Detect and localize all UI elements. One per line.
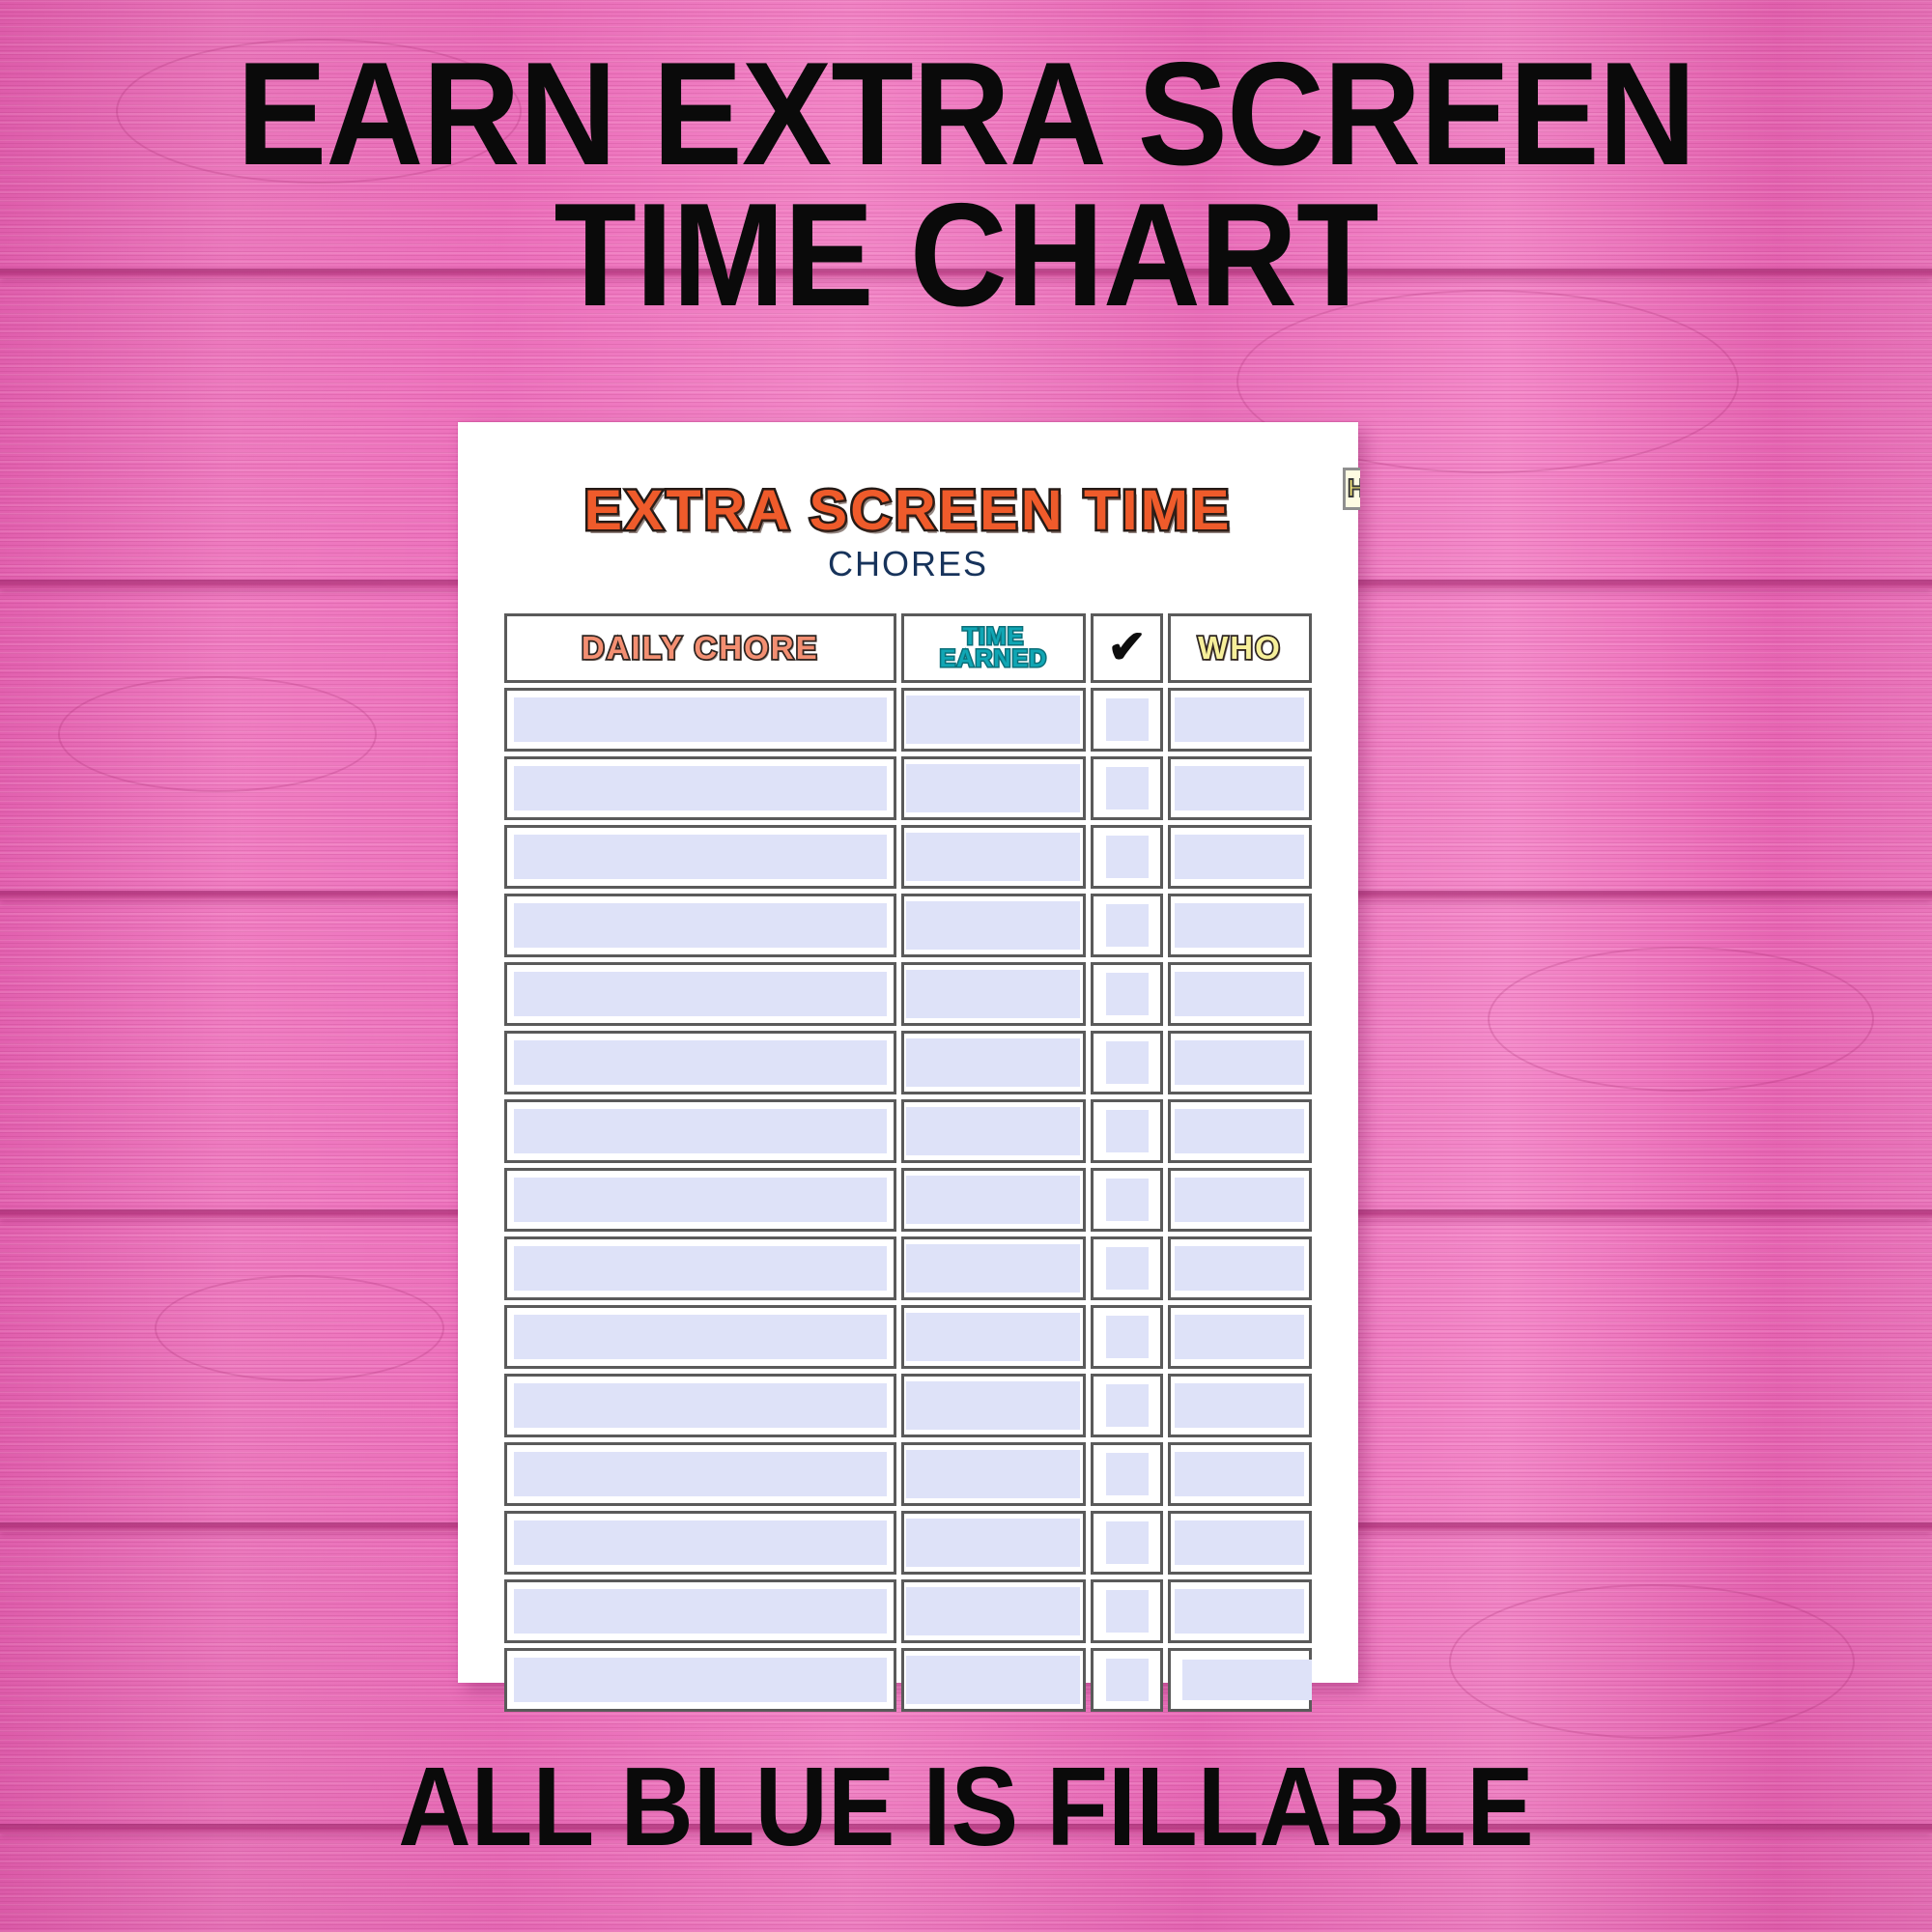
table-row bbox=[504, 1099, 1312, 1163]
poster-canvas: EARN EXTRA SCREEN TIME CHART H EXTRA SCR… bbox=[0, 0, 1932, 1932]
table-cell-daily_chore bbox=[504, 825, 896, 889]
table-cell-time_earned bbox=[901, 825, 1087, 889]
table-cell-daily_chore bbox=[504, 1648, 896, 1712]
check-fill-field[interactable] bbox=[1106, 1521, 1149, 1564]
time-fill-field[interactable] bbox=[906, 1450, 1080, 1498]
table-cell-time_earned bbox=[901, 756, 1087, 820]
printable-sheet: H EXTRA SCREEN TIME CHORES DAILY CHORE T… bbox=[458, 422, 1358, 1683]
headline-line-1: EARN EXTRA SCREEN bbox=[77, 44, 1855, 185]
check-fill-field[interactable] bbox=[1106, 1247, 1149, 1290]
table-cell-time_earned bbox=[901, 688, 1087, 752]
check-fill-field[interactable] bbox=[1106, 1659, 1149, 1701]
table-cell-time_earned bbox=[901, 1442, 1087, 1506]
headline-line-2: TIME CHART bbox=[77, 185, 1855, 327]
time-fill-field[interactable] bbox=[906, 833, 1080, 881]
chore-table: DAILY CHORE TIME EARNED ✔ WHO bbox=[504, 613, 1312, 1717]
table-row bbox=[504, 1236, 1312, 1300]
table-cell-time_earned bbox=[901, 1099, 1087, 1163]
table-cell-time_earned bbox=[901, 894, 1087, 957]
check-fill-field[interactable] bbox=[1106, 1179, 1149, 1221]
table-cell-who bbox=[1168, 1442, 1312, 1506]
table-cell-check bbox=[1091, 1442, 1163, 1506]
table-row bbox=[504, 688, 1312, 752]
table-cell-daily_chore bbox=[504, 1168, 896, 1232]
check-fill-field[interactable] bbox=[1106, 698, 1149, 741]
table-cell-who bbox=[1168, 825, 1312, 889]
who-fill-field[interactable] bbox=[1175, 972, 1304, 1016]
table-row bbox=[504, 1442, 1312, 1506]
who-fill-field[interactable] bbox=[1175, 903, 1304, 948]
chore-fill-field[interactable] bbox=[514, 972, 887, 1016]
table-row bbox=[504, 756, 1312, 820]
time-fill-field[interactable] bbox=[906, 1176, 1080, 1224]
sheet-title-block: EXTRA SCREEN TIME CHORES bbox=[458, 483, 1358, 582]
chore-fill-field[interactable] bbox=[514, 903, 887, 948]
table-cell-who bbox=[1168, 1099, 1312, 1163]
sheet-title: EXTRA SCREEN TIME bbox=[449, 483, 1368, 539]
table-cell-check bbox=[1091, 825, 1163, 889]
table-cell-who bbox=[1168, 1236, 1312, 1300]
check-fill-field[interactable] bbox=[1106, 1316, 1149, 1358]
column-header-who: WHO bbox=[1168, 613, 1312, 683]
table-cell-time_earned bbox=[901, 1236, 1087, 1300]
poster-headline: EARN EXTRA SCREEN TIME CHART bbox=[77, 44, 1855, 327]
table-cell-daily_chore bbox=[504, 688, 896, 752]
table-cell-who bbox=[1168, 962, 1312, 1026]
column-header-label: TIME EARNED bbox=[940, 626, 1048, 670]
table-cell-daily_chore bbox=[504, 1031, 896, 1094]
table-cell-daily_chore bbox=[504, 1236, 896, 1300]
chore-fill-field[interactable] bbox=[514, 1109, 887, 1153]
table-cell-who bbox=[1168, 1648, 1312, 1712]
caption-line: ALL BLUE IS FILLABLE bbox=[97, 1753, 1835, 1861]
table-cell-time_earned bbox=[901, 1168, 1087, 1232]
table-cell-check bbox=[1091, 1648, 1163, 1712]
time-fill-field[interactable] bbox=[906, 901, 1080, 950]
time-fill-field[interactable] bbox=[906, 1038, 1080, 1087]
table-cell-daily_chore bbox=[504, 962, 896, 1026]
check-fill-field[interactable] bbox=[1106, 973, 1149, 1015]
time-fill-field[interactable] bbox=[906, 1313, 1080, 1361]
table-body bbox=[504, 688, 1312, 1712]
time-fill-field[interactable] bbox=[906, 1244, 1080, 1293]
poster-caption: ALL BLUE IS FILLABLE bbox=[97, 1753, 1835, 1861]
table-cell-daily_chore bbox=[504, 1374, 896, 1437]
sheet-subtitle: CHORES bbox=[458, 547, 1358, 582]
table-cell-check bbox=[1091, 1579, 1163, 1643]
check-fill-field[interactable] bbox=[1106, 1384, 1149, 1427]
time-earned-line-2: EARNED bbox=[940, 645, 1048, 672]
column-header-check: ✔ bbox=[1091, 613, 1163, 683]
checkmark-icon: ✔ bbox=[1108, 625, 1147, 671]
who-fill-field[interactable] bbox=[1182, 1660, 1312, 1700]
table-row bbox=[504, 894, 1312, 957]
time-fill-field[interactable] bbox=[906, 1381, 1080, 1430]
table-cell-time_earned bbox=[901, 1511, 1087, 1575]
table-cell-time_earned bbox=[901, 962, 1087, 1026]
check-fill-field[interactable] bbox=[1106, 1590, 1149, 1633]
table-cell-daily_chore bbox=[504, 1511, 896, 1575]
who-fill-field[interactable] bbox=[1175, 766, 1304, 810]
table-cell-daily_chore bbox=[504, 1579, 896, 1643]
table-cell-check bbox=[1091, 962, 1163, 1026]
table-cell-daily_chore bbox=[504, 894, 896, 957]
table-row bbox=[504, 1374, 1312, 1437]
table-cell-who bbox=[1168, 688, 1312, 752]
table-cell-check bbox=[1091, 1099, 1163, 1163]
table-cell-who bbox=[1168, 1031, 1312, 1094]
check-fill-field[interactable] bbox=[1106, 1110, 1149, 1152]
table-row bbox=[504, 1031, 1312, 1094]
who-fill-field[interactable] bbox=[1175, 1315, 1304, 1359]
table-cell-time_earned bbox=[901, 1648, 1087, 1712]
check-fill-field[interactable] bbox=[1106, 904, 1149, 947]
check-fill-field[interactable] bbox=[1106, 767, 1149, 810]
column-header-time-earned: TIME EARNED bbox=[901, 613, 1087, 683]
chore-fill-field[interactable] bbox=[514, 1040, 887, 1085]
chore-fill-field[interactable] bbox=[514, 1658, 887, 1702]
table-row bbox=[504, 1648, 1312, 1712]
table-cell-check bbox=[1091, 1031, 1163, 1094]
table-row bbox=[504, 1511, 1312, 1575]
table-cell-time_earned bbox=[901, 1305, 1087, 1369]
time-fill-field[interactable] bbox=[906, 1587, 1080, 1635]
chore-fill-field[interactable] bbox=[514, 1315, 887, 1359]
who-fill-field[interactable] bbox=[1175, 1246, 1304, 1291]
table-cell-check bbox=[1091, 1168, 1163, 1232]
table-cell-daily_chore bbox=[504, 1305, 896, 1369]
table-cell-who bbox=[1168, 1579, 1312, 1643]
chore-fill-field[interactable] bbox=[514, 1246, 887, 1291]
check-fill-field[interactable] bbox=[1106, 1453, 1149, 1495]
table-header-row: DAILY CHORE TIME EARNED ✔ WHO bbox=[504, 613, 1312, 683]
table-cell-check bbox=[1091, 894, 1163, 957]
table-cell-time_earned bbox=[901, 1374, 1087, 1437]
chore-fill-field[interactable] bbox=[514, 697, 887, 742]
table-row bbox=[504, 1168, 1312, 1232]
chore-fill-field[interactable] bbox=[514, 1520, 887, 1565]
table-cell-who bbox=[1168, 1511, 1312, 1575]
who-fill-field[interactable] bbox=[1175, 1383, 1304, 1428]
column-header-label: WHO bbox=[1198, 633, 1282, 664]
time-fill-field[interactable] bbox=[906, 696, 1080, 744]
table-cell-check bbox=[1091, 1511, 1163, 1575]
who-fill-field[interactable] bbox=[1175, 1452, 1304, 1496]
who-fill-field[interactable] bbox=[1175, 1520, 1304, 1565]
time-fill-field[interactable] bbox=[906, 764, 1080, 812]
table-cell-daily_chore bbox=[504, 1099, 896, 1163]
column-header-label: DAILY CHORE bbox=[582, 633, 819, 664]
who-fill-field[interactable] bbox=[1175, 1109, 1304, 1153]
table-cell-check bbox=[1091, 756, 1163, 820]
time-fill-field[interactable] bbox=[906, 1656, 1080, 1704]
table-row bbox=[504, 1305, 1312, 1369]
table-cell-who bbox=[1168, 1374, 1312, 1437]
who-fill-field[interactable] bbox=[1175, 1040, 1304, 1085]
table-cell-daily_chore bbox=[504, 756, 896, 820]
chore-fill-field[interactable] bbox=[514, 1452, 887, 1496]
table-row bbox=[504, 825, 1312, 889]
time-fill-field[interactable] bbox=[906, 1107, 1080, 1155]
table-cell-who bbox=[1168, 894, 1312, 957]
table-cell-time_earned bbox=[901, 1031, 1087, 1094]
chore-fill-field[interactable] bbox=[514, 1178, 887, 1222]
table-cell-who bbox=[1168, 1168, 1312, 1232]
column-header-daily-chore: DAILY CHORE bbox=[504, 613, 896, 683]
chore-fill-field[interactable] bbox=[514, 766, 887, 810]
time-fill-field[interactable] bbox=[906, 1519, 1080, 1567]
chore-fill-field[interactable] bbox=[514, 1589, 887, 1634]
table-cell-who bbox=[1168, 1305, 1312, 1369]
who-fill-field[interactable] bbox=[1175, 1178, 1304, 1222]
time-fill-field[interactable] bbox=[906, 970, 1080, 1018]
table-cell-check bbox=[1091, 1374, 1163, 1437]
check-fill-field[interactable] bbox=[1106, 836, 1149, 878]
table-row bbox=[504, 962, 1312, 1026]
check-fill-field[interactable] bbox=[1106, 1041, 1149, 1084]
chore-fill-field[interactable] bbox=[514, 835, 887, 879]
table-row bbox=[504, 1579, 1312, 1643]
table-cell-check bbox=[1091, 688, 1163, 752]
table-cell-time_earned bbox=[901, 1579, 1087, 1643]
table-cell-who bbox=[1168, 756, 1312, 820]
chore-fill-field[interactable] bbox=[514, 1383, 887, 1428]
table-cell-check bbox=[1091, 1236, 1163, 1300]
who-fill-field[interactable] bbox=[1175, 835, 1304, 879]
table-cell-daily_chore bbox=[504, 1442, 896, 1506]
table-cell-check bbox=[1091, 1305, 1163, 1369]
who-fill-field[interactable] bbox=[1175, 1589, 1304, 1634]
who-fill-field[interactable] bbox=[1175, 697, 1304, 742]
